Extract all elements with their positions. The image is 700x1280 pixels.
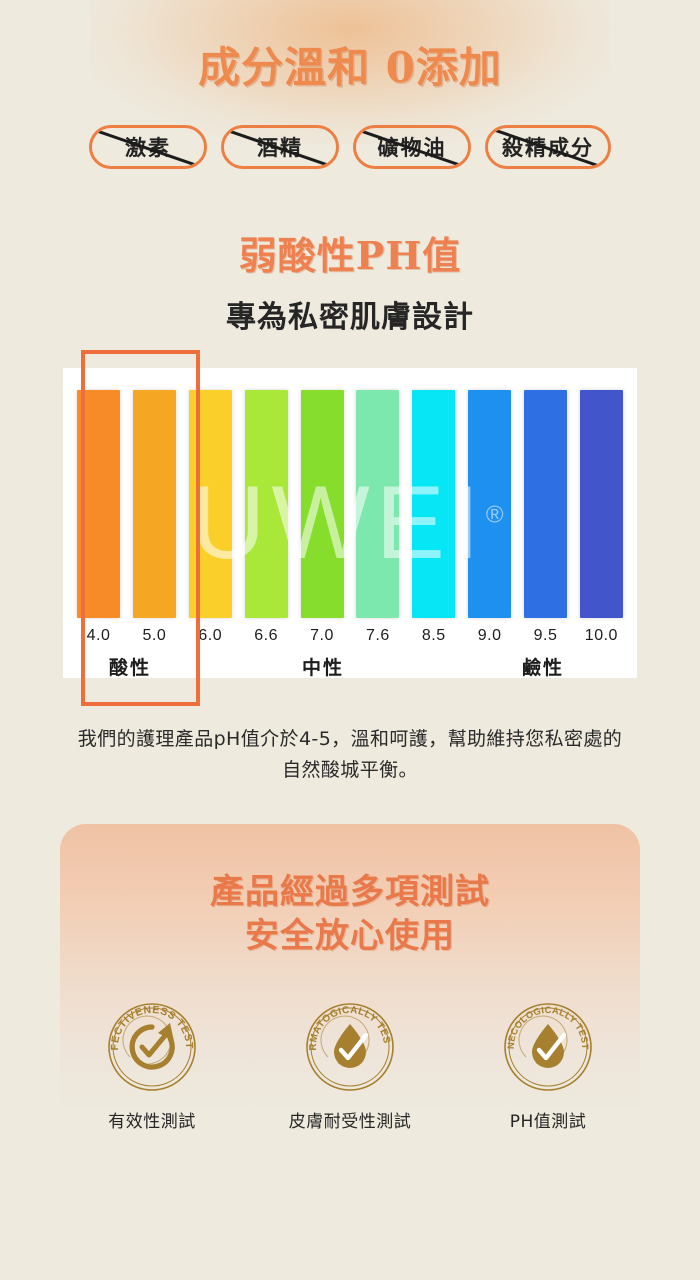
free-from-pill-row: 激素 酒精 礦物油 殺精成分 xyxy=(0,125,700,169)
ph-tick-label: 9.0 xyxy=(468,627,511,645)
page-root: 成分溫和 0添加 激素 酒精 礦物油 殺精成分 弱酸性PH值 專為私密肌膚設計 … xyxy=(0,34,700,1154)
ph-bar xyxy=(468,390,511,618)
badge-gynecological-caption: PH值測試 xyxy=(473,1107,623,1132)
ph-tick-label: 8.5 xyxy=(412,627,455,645)
ph-tick-label: 9.5 xyxy=(524,627,567,645)
ph-bar xyxy=(133,390,176,618)
ph-bar xyxy=(412,390,455,618)
ph-tick-label: 5.0 xyxy=(133,627,176,645)
ph-tick-label: 6.0 xyxy=(189,627,232,645)
pill-hormone: 激素 xyxy=(89,125,207,169)
ph-section-subtitle: 專為私密肌膚設計 xyxy=(0,292,700,336)
ph-description: 我們的護理產品pH值介於4-5，溫和呵護，幫助維持您私密處的自然酸城平衡。 xyxy=(72,724,628,786)
ph-tick-label: 7.0 xyxy=(301,627,344,645)
ph-zone-labels: 酸性 中性 鹼性 xyxy=(77,653,623,683)
ph-section-title: 弱酸性PH值 xyxy=(0,225,700,280)
pill-alcohol: 酒精 xyxy=(221,125,339,169)
ph-bar xyxy=(580,390,623,618)
ph-zone-neutral: 中性 xyxy=(183,653,463,683)
ph-tick-label: 6.6 xyxy=(245,627,288,645)
ph-tick-label: 4.0 xyxy=(77,627,120,645)
ph-bar xyxy=(356,390,399,618)
badge-dermatological: DERMATOGICALLY TESTED 皮膚耐受性測試 xyxy=(275,997,425,1132)
ph-chart-card: UWEI® 4.0 5.0 6.0 6.6 7.0 7.6 xyxy=(63,368,637,678)
tested-section: 產品經過多項測試 安全放心使用 EFFECTIVENESS TESTED xyxy=(60,824,640,1154)
gynecological-seal-icon: GYNECOLOGICALLY TESTED xyxy=(498,997,598,1097)
tested-title-line1: 產品經過多項測試 xyxy=(60,870,640,915)
ph-bar xyxy=(245,390,288,618)
ph-tick-label: 7.6 xyxy=(356,627,399,645)
badge-gynecological: GYNECOLOGICALLY TESTED PH值測試 xyxy=(473,997,623,1132)
tested-title-line2: 安全放心使用 xyxy=(60,914,640,959)
ph-tick-label: 10.0 xyxy=(580,627,623,645)
ph-bars xyxy=(77,390,623,618)
ph-zone-alkaline: 鹼性 xyxy=(463,653,623,683)
badge-effectiveness-caption: 有效性測試 xyxy=(77,1107,227,1132)
certification-badge-row: EFFECTIVENESS TESTED 有效性測試 xyxy=(60,997,640,1132)
ph-zone-acidic: 酸性 xyxy=(77,653,183,683)
badge-dermatological-caption: 皮膚耐受性測試 xyxy=(275,1107,425,1132)
effectiveness-seal-icon: EFFECTIVENESS TESTED xyxy=(102,997,202,1097)
badge-effectiveness: EFFECTIVENESS TESTED 有效性測試 xyxy=(77,997,227,1132)
ph-scale-labels: 4.0 5.0 6.0 6.6 7.0 7.6 8.5 9.0 9.5 10.0 xyxy=(77,627,623,645)
ph-bar xyxy=(301,390,344,618)
ph-bar xyxy=(77,390,120,618)
dermatological-seal-icon: DERMATOGICALLY TESTED xyxy=(300,997,400,1097)
pill-spermicide: 殺精成分 xyxy=(485,125,611,169)
pill-mineral-oil: 礦物油 xyxy=(353,125,471,169)
ph-bar xyxy=(524,390,567,618)
page-title: 成分溫和 0添加 xyxy=(0,34,700,95)
tested-section-title: 產品經過多項測試 安全放心使用 xyxy=(60,870,640,960)
ph-chart: UWEI® 4.0 5.0 6.0 6.6 7.0 7.6 xyxy=(63,368,637,678)
ph-bar xyxy=(189,390,232,618)
